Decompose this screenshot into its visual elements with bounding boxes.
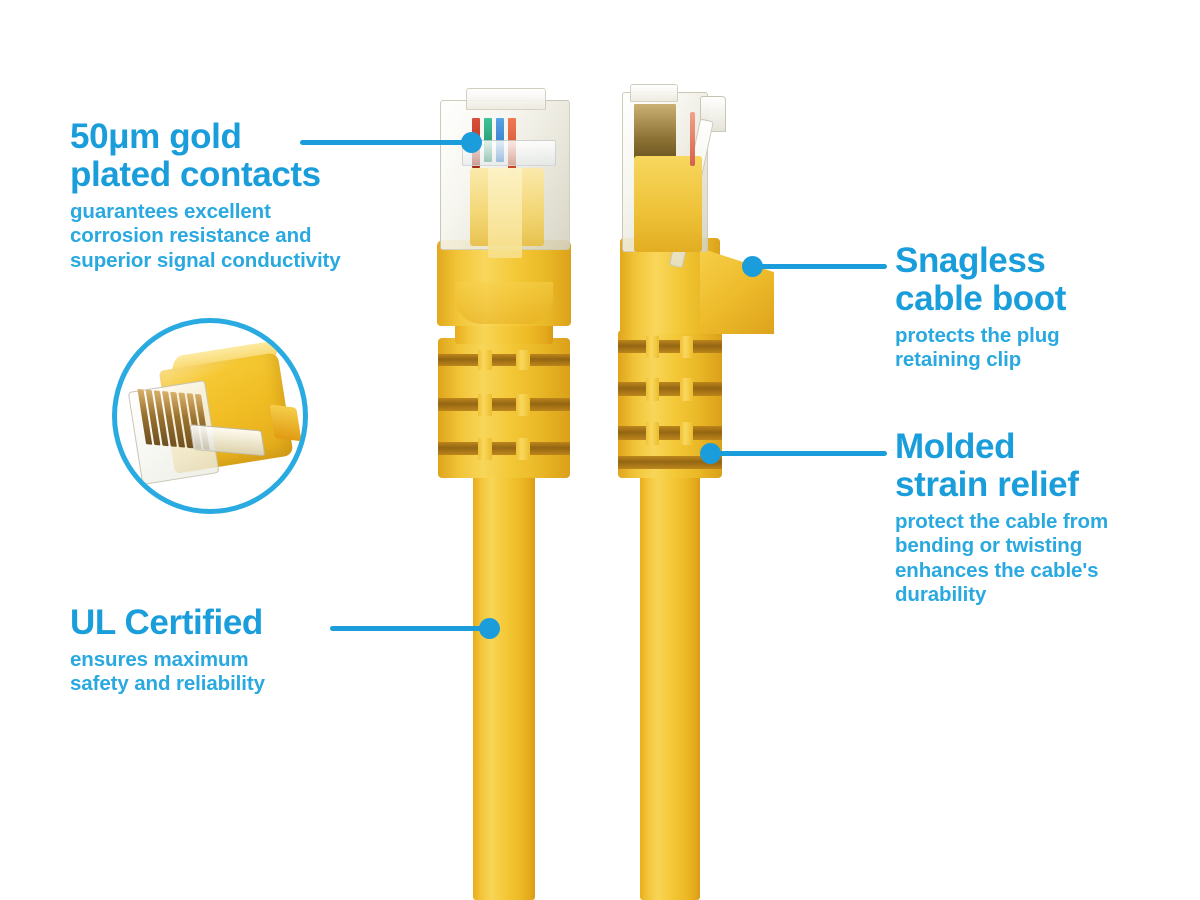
strain-notch: [516, 438, 530, 460]
strain-notch: [478, 350, 492, 370]
callout-gold-contacts: 50μm gold plated contacts guarantees exc…: [70, 118, 400, 273]
callout-title: Molded strain relief: [895, 428, 1195, 504]
strain-relief-left: [438, 338, 570, 478]
cable-jacket-right: [640, 470, 700, 900]
callout-description: protects the plug retaining clip: [895, 324, 1185, 373]
boot-lip-left: [455, 282, 553, 324]
strain-rib: [438, 442, 570, 455]
strain-rib: [618, 382, 722, 396]
strain-notch: [478, 438, 492, 460]
inset-rj45-plug: [125, 347, 304, 491]
connector-housing-cap-left: [466, 88, 546, 110]
strain-rib: [438, 354, 570, 366]
strain-notch: [646, 336, 659, 358]
connector-core-right: [634, 156, 702, 252]
infographic-canvas: 50μm gold plated contacts guarantees exc…: [0, 0, 1200, 900]
strain-notch: [646, 422, 659, 445]
strain-notch: [516, 350, 530, 370]
gold-contacts-side: [634, 104, 676, 160]
strain-rib: [438, 398, 570, 411]
callout-title: 50μm gold plated contacts: [70, 118, 400, 194]
callout-description: ensures maximum safety and reliability: [70, 648, 400, 697]
connector-tab-center-left: [488, 168, 522, 258]
callout-title: Snagless cable boot: [895, 242, 1185, 318]
leader-dot-ul-certified: [479, 618, 500, 639]
callout-molded-strain-relief: Molded strain relief protect the cable f…: [895, 428, 1195, 608]
strain-notch: [680, 378, 693, 401]
strain-notch: [680, 422, 693, 445]
leader-line-molded: [710, 451, 887, 456]
callout-description: guarantees excellent corrosion resistanc…: [70, 200, 400, 274]
snagless-boot-tail: [700, 248, 774, 334]
leader-dot-snagless: [742, 256, 763, 277]
gold-contacts-zoom-inset: [112, 318, 308, 514]
leader-dot-gold-contacts: [461, 132, 482, 153]
wire-strand-right: [690, 112, 695, 166]
callout-ul-certified: UL Certified ensures maximum safety and …: [70, 604, 400, 697]
inset-plug-tab: [269, 404, 301, 441]
connector-housing-cap-right: [630, 84, 678, 102]
cable-jacket-left: [473, 470, 535, 900]
strain-notch: [516, 394, 530, 416]
callout-description: protect the cable from bending or twisti…: [895, 510, 1195, 608]
strain-notch: [680, 336, 693, 358]
callout-snagless-boot: Snagless cable boot protects the plug re…: [895, 242, 1185, 373]
strain-notch: [646, 378, 659, 401]
strain-rib: [618, 426, 722, 440]
strain-notch: [478, 394, 492, 416]
leader-dot-molded: [700, 443, 721, 464]
callout-title: UL Certified: [70, 604, 400, 642]
strain-rib: [618, 340, 722, 353]
leader-line-snagless: [752, 264, 887, 269]
